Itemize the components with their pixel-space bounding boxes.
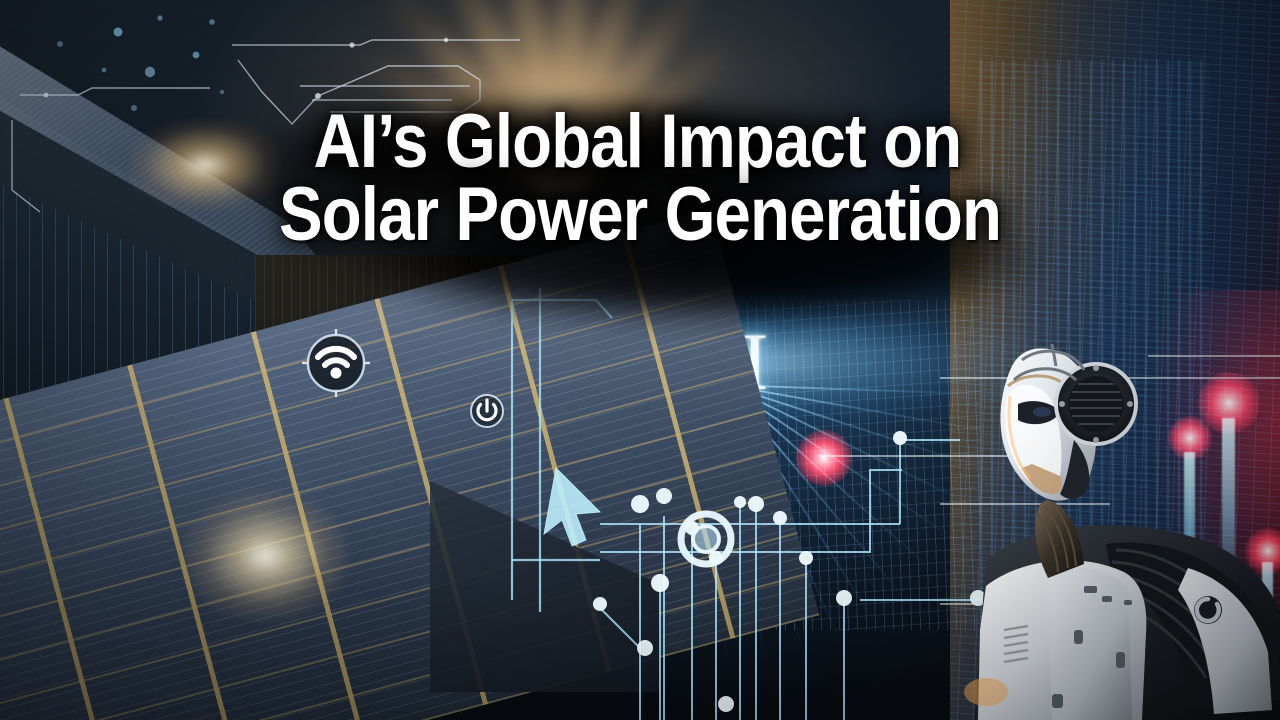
title-line-1: AI’s Global Impact on [90, 106, 1191, 179]
page-title: AI’s Global Impact on Solar Power Genera… [0, 106, 1280, 252]
thumbnail-canvas: SOLAR AI [0, 0, 1280, 720]
title-line-2: Solar Power Generation [90, 179, 1191, 252]
